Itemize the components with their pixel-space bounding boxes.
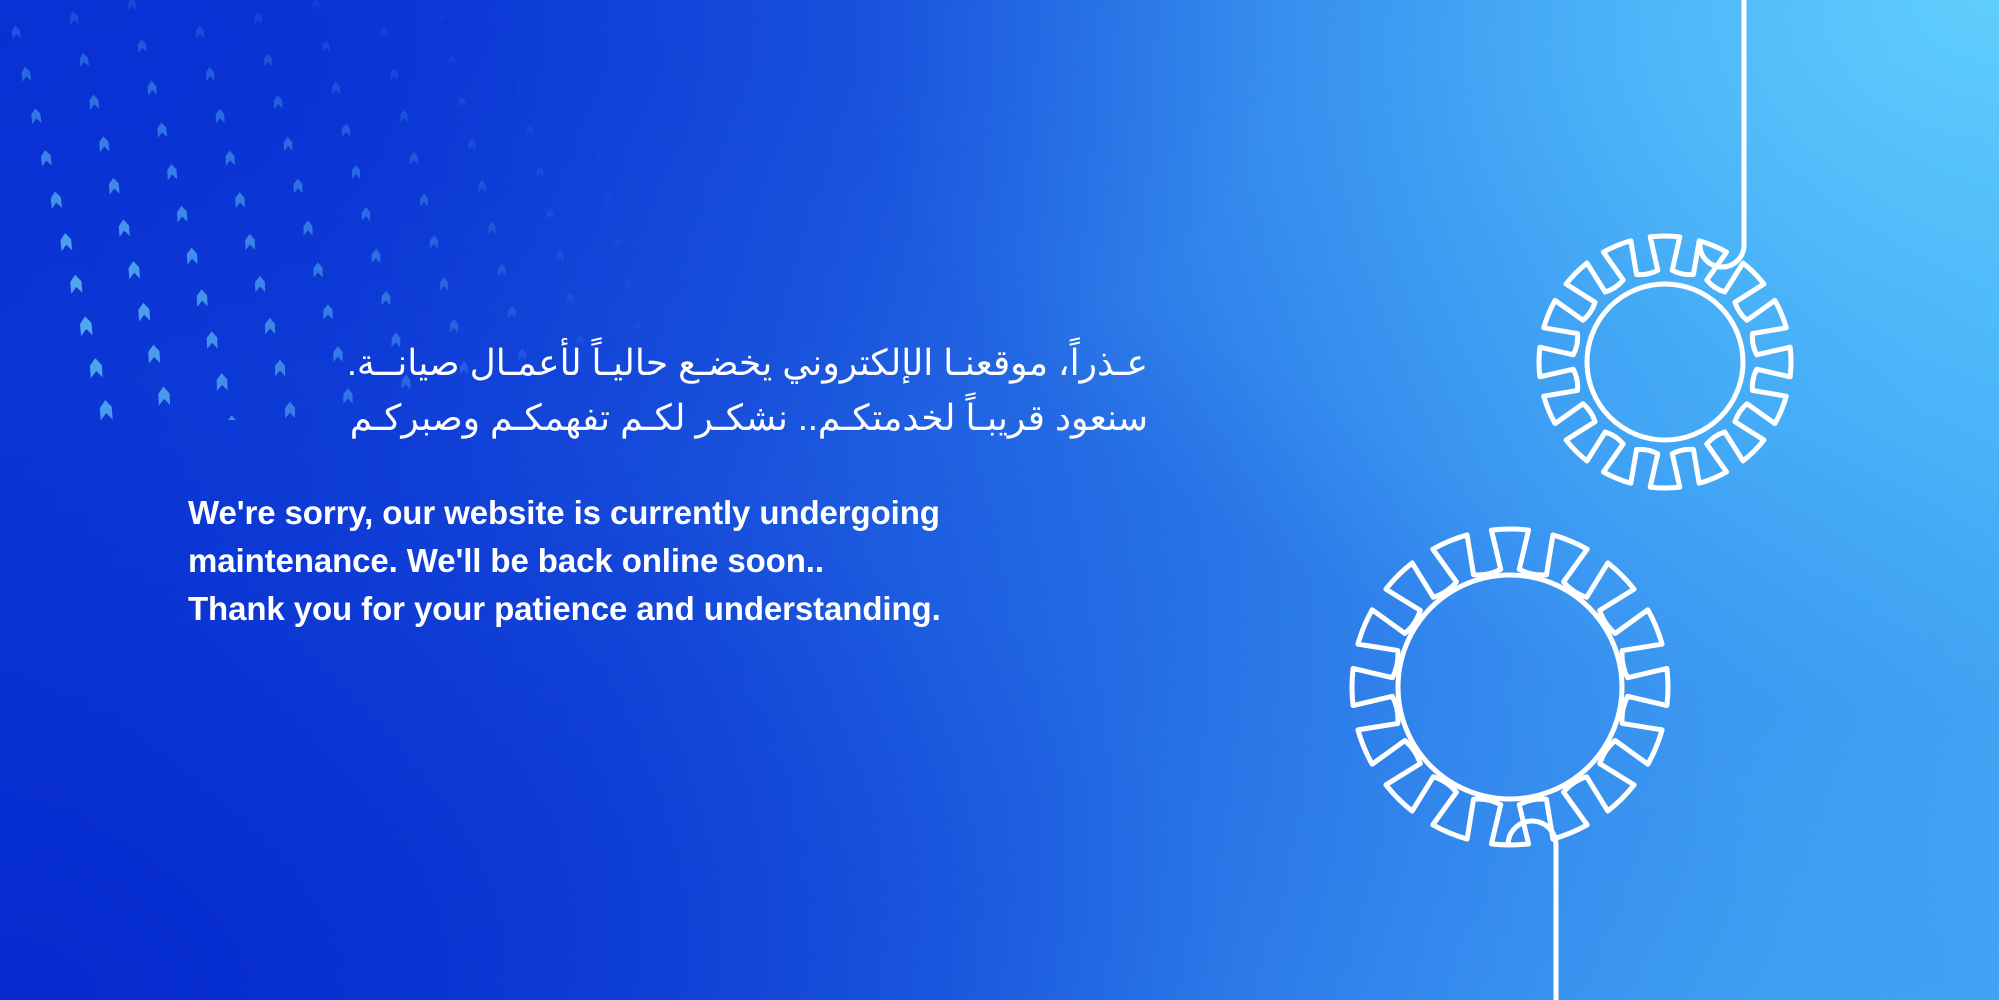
- maintenance-page: عـذراً، موقعنـا الإلكتروني يخضـع حاليـاً…: [0, 0, 1999, 1000]
- maintenance-message-english: We're sorry, our website is currently un…: [188, 489, 1148, 633]
- maintenance-message: عـذراً، موقعنـا الإلكتروني يخضـع حاليـاً…: [188, 336, 1148, 633]
- maintenance-message-arabic: عـذراً، موقعنـا الإلكتروني يخضـع حاليـاً…: [188, 336, 1148, 445]
